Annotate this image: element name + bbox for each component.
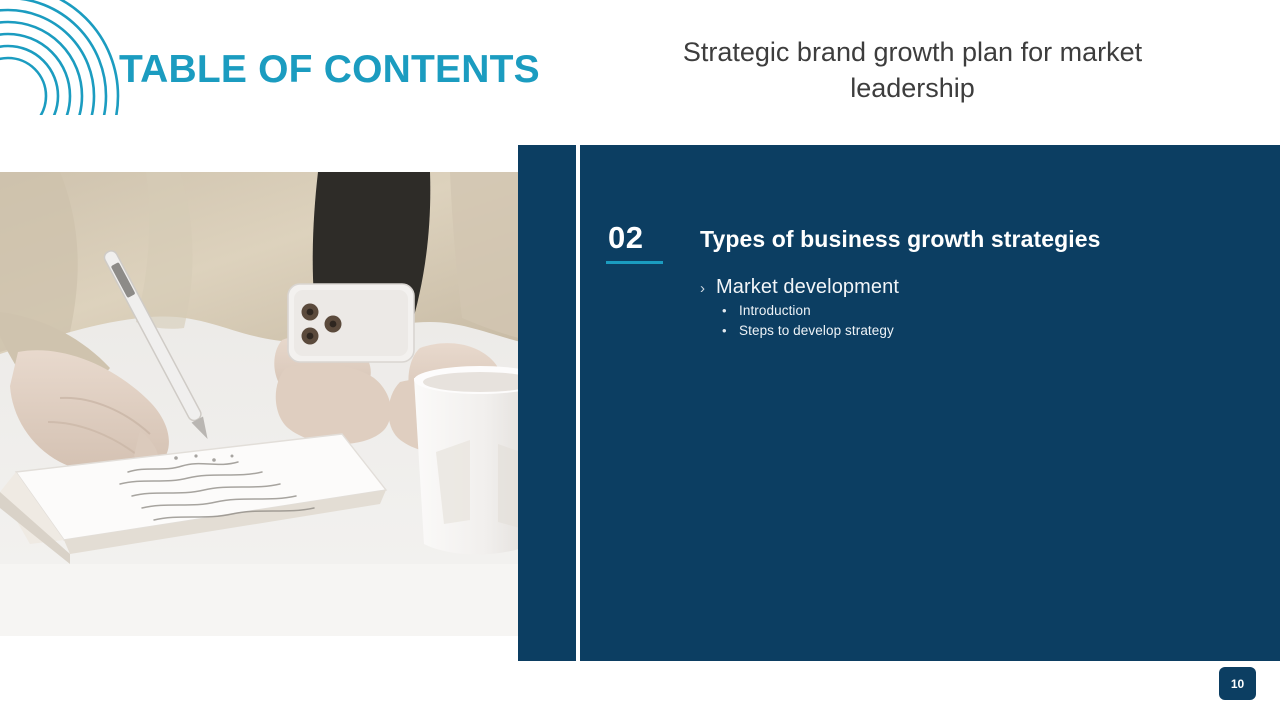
- list-item[interactable]: › Market development • Introduction • St…: [700, 276, 1220, 341]
- page-title: TABLE OF CONTENTS: [119, 48, 540, 92]
- topic-row: › Market development: [700, 276, 1220, 299]
- content-panel: [580, 145, 1280, 661]
- subtopic-list: • Introduction • Steps to develop strate…: [700, 301, 1220, 341]
- list-item[interactable]: • Steps to develop strategy: [700, 321, 1220, 341]
- section-title: Types of business growth strategies: [700, 226, 1101, 253]
- subtopic-label: Introduction: [739, 301, 811, 321]
- topic-list: › Market development • Introduction • St…: [700, 276, 1220, 341]
- illustration-photo: [0, 172, 546, 636]
- bullet-dot-icon: •: [722, 302, 739, 321]
- list-item[interactable]: • Introduction: [700, 301, 1220, 321]
- topic-label: Market development: [716, 276, 899, 299]
- section-number: 02: [608, 222, 643, 253]
- concentric-arcs-logo: [0, 0, 130, 115]
- chevron-right-icon: ›: [700, 281, 716, 296]
- deck-title: Strategic brand growth plan for market l…: [640, 35, 1185, 106]
- accent-panel-strip: [518, 145, 576, 661]
- bullet-dot-icon: •: [722, 322, 739, 341]
- section-number-underline: [606, 261, 663, 264]
- page-number-badge: 10: [1219, 667, 1256, 700]
- subtopic-label: Steps to develop strategy: [739, 321, 894, 341]
